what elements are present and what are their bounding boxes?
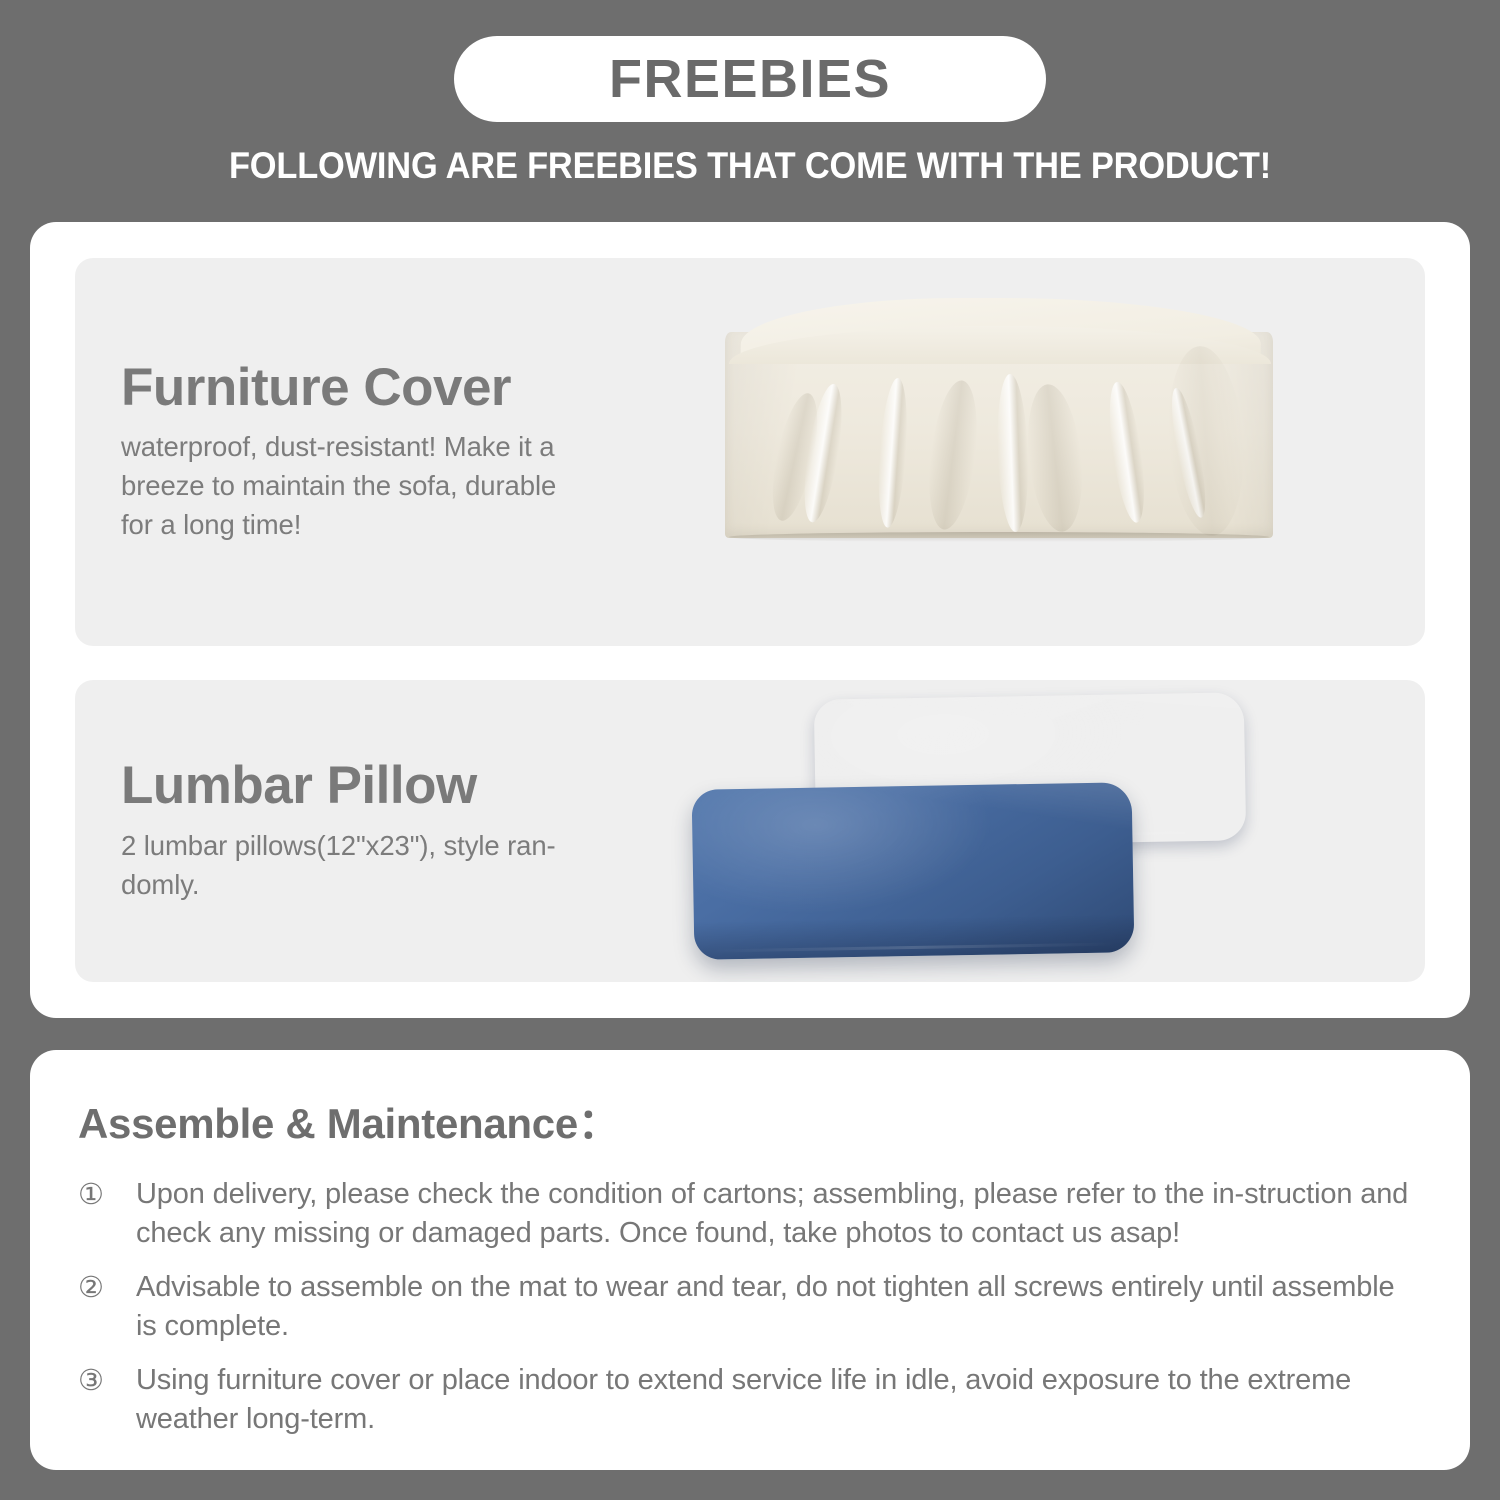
- product-panel-lumbar-pillow: Lumbar Pillow 2 lumbar pillows(12"x23"),…: [75, 680, 1425, 982]
- list-marker-3: ③: [78, 1361, 118, 1401]
- page-title: FREEBIES: [609, 52, 891, 106]
- product-panel-furniture-cover: Furniture Cover waterproof, dust-resista…: [75, 258, 1425, 646]
- furniture-cover-image: [675, 258, 1425, 646]
- maintenance-heading: Assemble & Maintenance：: [78, 1090, 1422, 1151]
- list-item: ① Upon delivery, please check the condit…: [78, 1175, 1422, 1252]
- list-item: ② Advisable to assemble on the mat to we…: [78, 1268, 1422, 1345]
- furniture-cover-description: waterproof, dust-resistant! Make it a br…: [121, 427, 675, 544]
- list-item: ③ Using furniture cover or place indoor …: [78, 1361, 1422, 1438]
- lumbar-pillow-description: 2 lumbar pillows(12"x23"), style ran- do…: [121, 826, 675, 904]
- list-text-2: Advisable to assemble on the mat to wear…: [118, 1268, 1422, 1345]
- furniture-cover-text-block: Furniture Cover waterproof, dust-resista…: [75, 360, 675, 545]
- list-text-1: Upon delivery, please check the conditio…: [118, 1175, 1422, 1252]
- page-subtitle: FOLLOWING ARE FREEBIES THAT COME WITH TH…: [53, 145, 1448, 187]
- list-marker-1: ①: [78, 1175, 118, 1215]
- assemble-maintenance-card: Assemble & Maintenance： ① Upon delivery,…: [30, 1050, 1470, 1470]
- freebies-card: Furniture Cover waterproof, dust-resista…: [30, 222, 1470, 1018]
- lumbar-pillow-image: [675, 680, 1425, 982]
- list-text-3: Using furniture cover or place indoor to…: [118, 1361, 1422, 1438]
- page-header: FREEBIES FOLLOWING ARE FREEBIES THAT COM…: [0, 0, 1500, 187]
- maintenance-list: ① Upon delivery, please check the condit…: [78, 1175, 1422, 1438]
- freebies-title-badge: FREEBIES: [454, 36, 1046, 122]
- lumbar-pillow-text-block: Lumbar Pillow 2 lumbar pillows(12"x23"),…: [75, 758, 675, 904]
- list-marker-2: ②: [78, 1268, 118, 1308]
- lumbar-pillow-title: Lumbar Pillow: [121, 758, 675, 814]
- furniture-cover-title: Furniture Cover: [121, 360, 675, 416]
